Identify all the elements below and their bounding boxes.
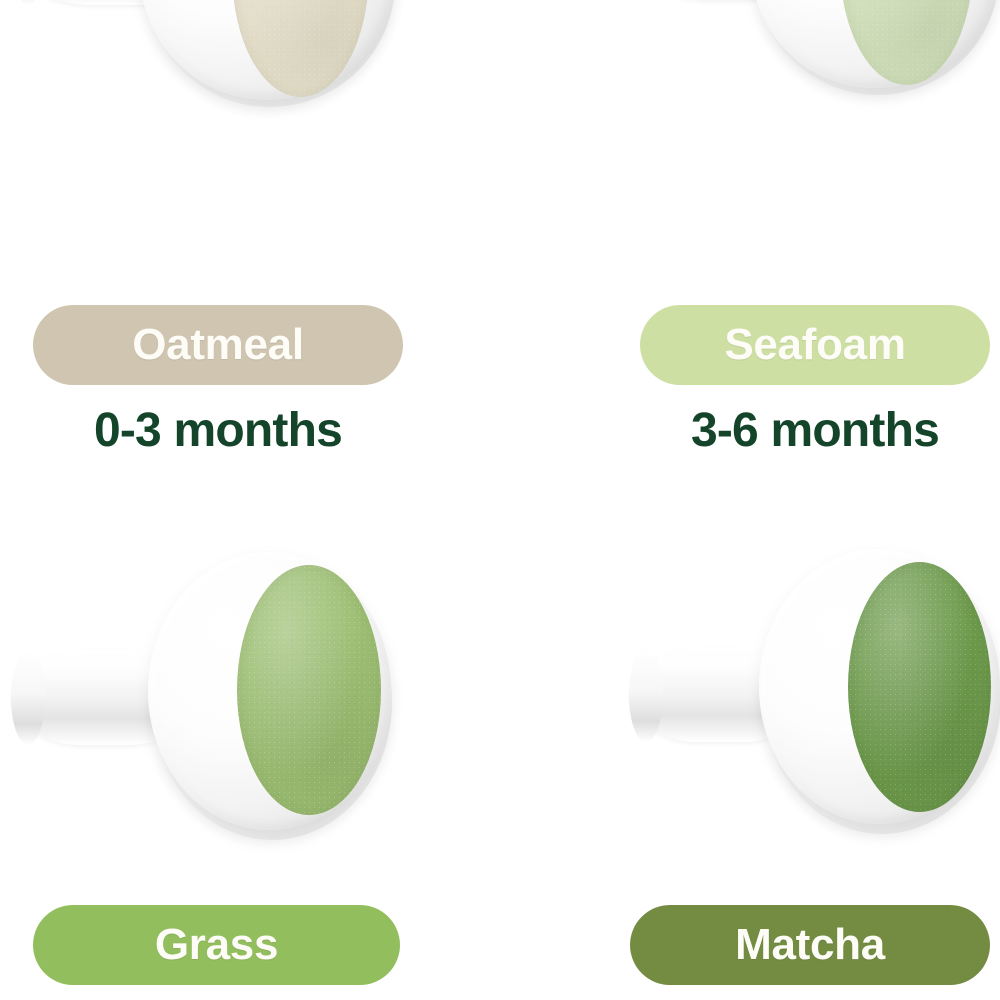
product-pad-grass	[237, 565, 381, 815]
product-image-oatmeal[interactable]	[0, 0, 420, 260]
color-label-text: Grass	[155, 920, 278, 970]
nail-file-head-icon	[0, 540, 420, 870]
color-label-text: Seafoam	[724, 320, 905, 370]
color-label-text: Matcha	[735, 920, 885, 970]
age-range-seafoam: 3-6 months	[640, 403, 990, 458]
product-image-matcha[interactable]	[608, 540, 1000, 870]
product-image-seafoam[interactable]	[608, 0, 1000, 257]
color-label-grass[interactable]: Grass	[33, 905, 400, 985]
product-color-grid: Oatmeal 0-3 months Seafoam 3-6 months Gr…	[0, 0, 1000, 1000]
nail-file-head-icon	[608, 0, 1000, 257]
color-label-text: Oatmeal	[132, 320, 304, 370]
product-pad-matcha	[848, 562, 991, 812]
color-label-seafoam[interactable]: Seafoam	[640, 305, 990, 385]
color-label-matcha[interactable]: Matcha	[630, 905, 990, 985]
age-range-oatmeal: 0-3 months	[33, 403, 403, 458]
product-image-grass[interactable]	[0, 540, 420, 870]
nail-file-head-icon	[0, 0, 420, 260]
nail-file-head-icon	[608, 540, 1000, 870]
color-label-oatmeal[interactable]: Oatmeal	[33, 305, 403, 385]
